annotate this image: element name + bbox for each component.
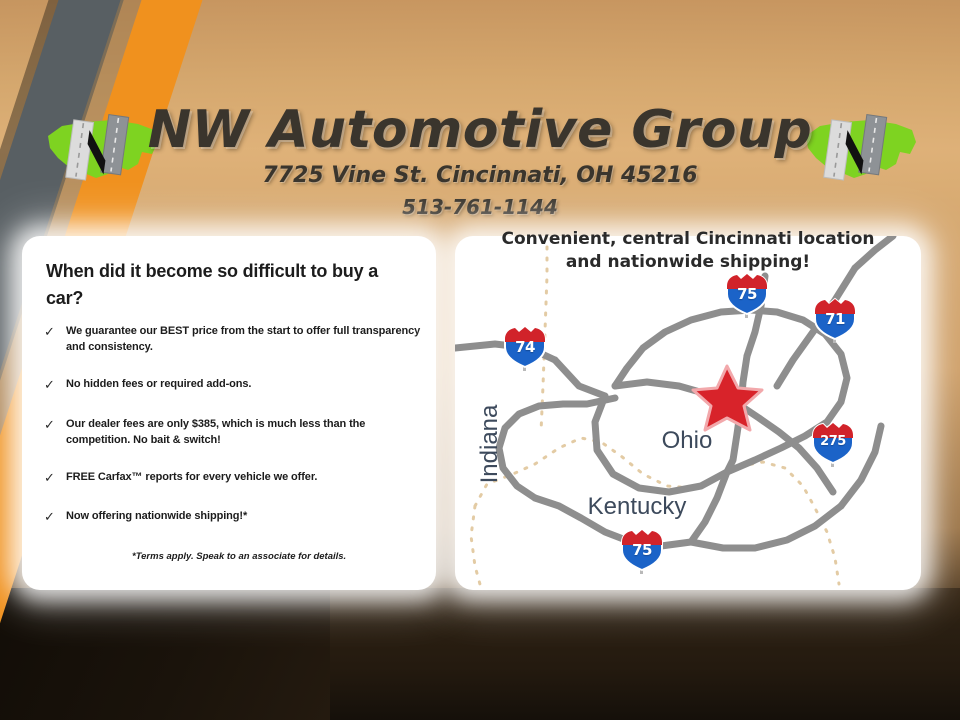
interstate-75-north-shield: 75 — [725, 272, 769, 318]
background-bottom-dark-corner — [0, 588, 330, 720]
brand-title: NW Automotive Group — [0, 104, 960, 157]
red-star-marker — [693, 366, 762, 430]
list-item: ✓ Now offering nationwide shipping!* — [44, 509, 426, 528]
state-label-kentucky: Kentucky — [588, 493, 687, 520]
shield-number: 75 — [725, 285, 769, 303]
list-item-label: Now offering nationwide shipping!* — [66, 509, 247, 525]
interstate-75-south-shield: 75 — [620, 528, 664, 574]
list-item-label: Our dealer fees are only $385, which is … — [66, 417, 426, 449]
list-item-label: We guarantee our BEST price from the sta… — [66, 324, 426, 356]
list-item: ✓ Our dealer fees are only $385, which i… — [44, 417, 426, 449]
check-icon: ✓ — [44, 417, 66, 436]
interstate-275-shield: 275 — [811, 421, 855, 467]
interstate-71-shield: 71 — [813, 297, 857, 343]
state-label-ohio: Ohio — [662, 427, 713, 454]
benefits-card: When did it become so difficult to buy a… — [22, 236, 436, 590]
benefits-heading: When did it become so difficult to buy a… — [46, 258, 414, 312]
list-item: ✓ No hidden fees or required add-ons. — [44, 377, 426, 396]
interstate-74-shield: 74 — [503, 325, 547, 371]
check-icon: ✓ — [44, 509, 66, 528]
check-icon: ✓ — [44, 324, 66, 343]
check-icon: ✓ — [44, 470, 66, 489]
map-heading-line2: and nationwide shipping! — [455, 251, 921, 274]
brand-phone[interactable]: 513-761-1144 — [0, 195, 960, 219]
list-item: ✓ We guarantee our BEST price from the s… — [44, 324, 426, 356]
shield-number: 71 — [813, 310, 857, 328]
map-heading-line1: Convenient, central Cincinnati location — [455, 228, 921, 251]
map-heading: Convenient, central Cincinnati location … — [455, 228, 921, 274]
brand-address: 7725 Vine St. Cincinnati, OH 45216 — [0, 163, 960, 188]
shield-number: 75 — [620, 541, 664, 559]
list-item: ✓ FREE Carfax™ reports for every vehicle… — [44, 470, 426, 489]
map-graphic: Ohio Kentucky Indiana — [455, 236, 921, 590]
terms-footnote: *Terms apply. Speak to an associate for … — [132, 551, 422, 562]
slide-canvas: NW Automotive Group 7725 Vine St. Cincin… — [0, 0, 960, 720]
shield-number: 275 — [811, 434, 855, 449]
list-item-label: No hidden fees or required add-ons. — [66, 377, 251, 393]
brand-header: NW Automotive Group 7725 Vine St. Cincin… — [0, 104, 960, 219]
list-item-label: FREE Carfax™ reports for every vehicle w… — [66, 470, 317, 486]
check-icon: ✓ — [44, 377, 66, 396]
state-label-indiana: Indiana — [476, 404, 503, 483]
benefits-list: ✓ We guarantee our BEST price from the s… — [44, 324, 426, 549]
shield-number: 74 — [503, 338, 547, 356]
